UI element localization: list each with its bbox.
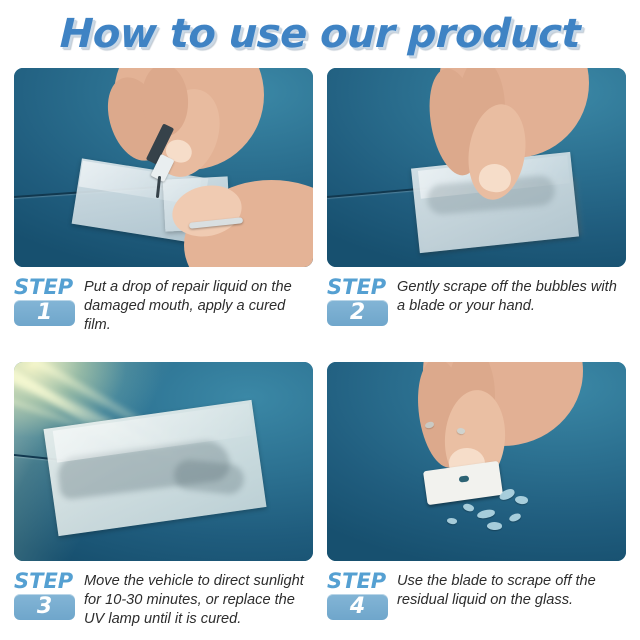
step-2-photo (327, 68, 626, 267)
step-card-3: STEP 3 Move the vehicle to direct sunlig… (14, 362, 313, 638)
step-1-caption: STEP 1 Put a drop of repair liquid on th… (14, 277, 313, 335)
step-2-badge: 2 (327, 300, 388, 326)
step-3-badge: 3 (14, 594, 75, 620)
step-2-label: STEP (327, 277, 397, 297)
step-3-number: 3 (37, 596, 52, 618)
step-2-description: Gently scrape off the bubbles with a bla… (397, 277, 626, 316)
step-4-number: 4 (350, 596, 365, 618)
steps-grid: STEP 1 Put a drop of repair liquid on th… (14, 68, 626, 632)
step-2-number: 2 (350, 302, 365, 324)
step-3-description: Move the vehicle to direct sunlight for … (84, 571, 313, 629)
step-3-label: STEP (14, 571, 84, 591)
page-title: How to use our product (59, 11, 581, 57)
step-3-caption: STEP 3 Move the vehicle to direct sunlig… (14, 571, 313, 629)
step-1-badge: 1 (14, 300, 75, 326)
step-1-marker: STEP 1 (14, 277, 84, 326)
step-4-badge: 4 (327, 594, 388, 620)
step-1-photo (14, 68, 313, 267)
step-1-description: Put a drop of repair liquid on the damag… (84, 277, 313, 335)
step-card-1: STEP 1 Put a drop of repair liquid on th… (14, 68, 313, 344)
step-card-2: STEP 2 Gently scrape off the bubbles wit… (327, 68, 626, 344)
step-4-photo (327, 362, 626, 561)
step-2-caption: STEP 2 Gently scrape off the bubbles wit… (327, 277, 626, 326)
infographic-page: How to use our product (0, 0, 640, 640)
page-title-container: How to use our product (0, 8, 640, 60)
step-4-marker: STEP 4 (327, 571, 397, 620)
step-3-marker: STEP 3 (14, 571, 84, 620)
step-3-photo (14, 362, 313, 561)
step-2-marker: STEP 2 (327, 277, 397, 326)
step-4-description: Use the blade to scrape off the residual… (397, 571, 626, 610)
step-1-number: 1 (37, 302, 52, 324)
step-1-label: STEP (14, 277, 84, 297)
step-card-4: STEP 4 Use the blade to scrape off the r… (327, 362, 626, 638)
step-4-label: STEP (327, 571, 397, 591)
step-4-caption: STEP 4 Use the blade to scrape off the r… (327, 571, 626, 620)
